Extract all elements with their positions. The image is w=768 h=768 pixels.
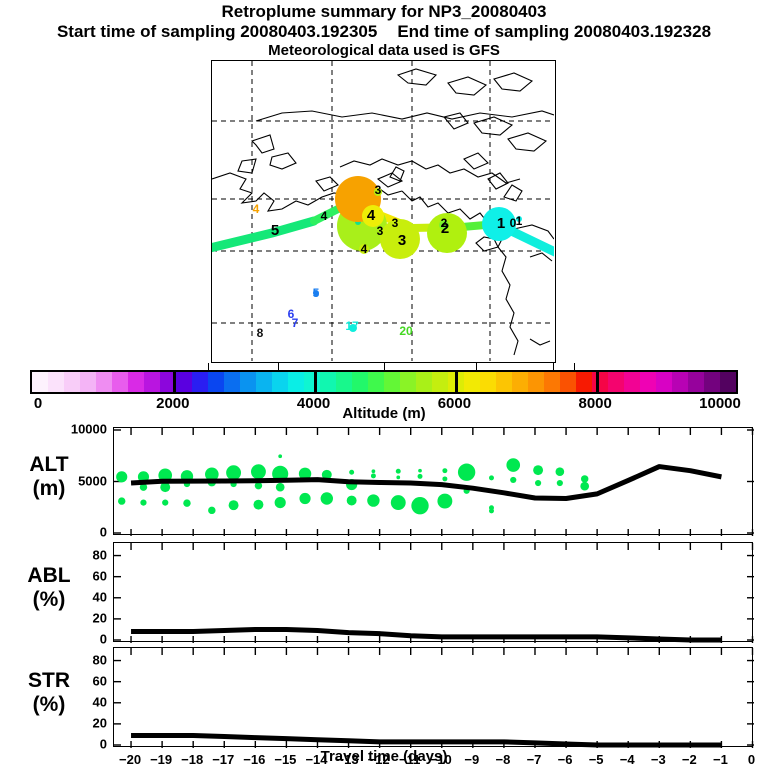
altitude-scatter-marker — [226, 465, 241, 480]
altitude-scatter-marker — [411, 497, 428, 514]
colorbar-segment — [144, 372, 160, 392]
ytick-label: 0 — [100, 633, 107, 646]
colorbar-segment — [400, 372, 416, 392]
xtick-label: −10 — [430, 753, 452, 767]
altitude-scatter-marker — [118, 497, 125, 504]
xtick-label: −18 — [181, 753, 203, 767]
colorbar-segment — [592, 372, 608, 392]
altitude-scatter-marker — [396, 476, 400, 480]
xtick-label: −11 — [399, 753, 420, 767]
map-trajectory-label: 5 — [271, 225, 279, 237]
altitude-scatter-marker — [278, 454, 282, 458]
colorbar-segment — [240, 372, 256, 392]
panel-plot-area-str — [114, 648, 754, 748]
colorbar-divider — [455, 372, 458, 392]
colorbar-segment — [656, 372, 672, 392]
xtick-label: −16 — [243, 753, 265, 767]
colorbar-divider — [596, 372, 599, 392]
colorbar-upper-tick — [476, 363, 477, 370]
colorbar-segment — [672, 372, 688, 392]
altitude-scatter-marker — [372, 469, 376, 473]
colorbar-segment — [32, 372, 48, 392]
xtick-label: −2 — [682, 753, 697, 767]
colorbar-divider — [173, 372, 176, 392]
colorbar-segment — [704, 372, 720, 392]
trajectory-map[interactable]: 45443433322101456781720 — [211, 60, 556, 363]
colorbar-segment — [384, 372, 400, 392]
xtick-label: −17 — [212, 753, 234, 767]
colorbar-segment — [544, 372, 560, 392]
altitude-scatter-marker — [116, 471, 127, 482]
colorbar-upper-tick — [278, 363, 279, 370]
altitude-scatter-marker — [437, 494, 452, 509]
xtick-label: −3 — [651, 753, 666, 767]
map-trajectory-label: 3 — [375, 184, 382, 196]
altitude-scatter-marker — [557, 480, 563, 486]
colorbar-upper-tick — [574, 363, 575, 370]
xtick-label: −7 — [527, 753, 542, 767]
ytick-label: 60 — [93, 674, 107, 687]
altitude-scatter-marker — [418, 469, 422, 473]
panel-unit: (%) — [6, 588, 92, 612]
altitude-scatter-marker — [533, 465, 543, 475]
colorbar-title: Altitude (m) — [0, 405, 768, 422]
end-time-label: End time of sampling 20080403.192328 — [397, 22, 711, 42]
panel-unit: (m) — [6, 477, 92, 501]
ytick-label: 80 — [93, 548, 107, 561]
altitude-scatter-marker — [510, 477, 516, 483]
xtick-label: −4 — [620, 753, 635, 767]
colorbar-segment — [224, 372, 240, 392]
xtick-label: −8 — [495, 753, 510, 767]
ytick-label: 20 — [93, 611, 107, 624]
panel-plot-area-alt — [114, 428, 754, 536]
start-time-label: Start time of sampling 20080403.192305 — [57, 22, 377, 42]
ytick-label: 0 — [100, 526, 107, 539]
xtick-label: −1 — [713, 753, 728, 767]
altitude-scatter-marker — [442, 476, 447, 481]
xtick-label: 0 — [748, 753, 755, 767]
map-trajectory-label: 20 — [399, 325, 412, 337]
xtick-label: −6 — [558, 753, 573, 767]
xtick-label: −20 — [119, 753, 141, 767]
altitude-scatter-marker — [391, 495, 406, 510]
trajectory-segment — [212, 221, 314, 249]
altitude-colorbar[interactable]: 0200040006000800010000 — [30, 370, 738, 394]
panel-name: STR — [6, 669, 92, 693]
map-trajectory-label: 8 — [257, 327, 264, 339]
map-trajectory-label: 4 — [357, 195, 365, 207]
colorbar-upper-tick — [384, 363, 385, 370]
colorbar-upper-tick — [553, 363, 554, 370]
ytick-label: 10000 — [71, 423, 107, 436]
map-trajectory-label: 4 — [367, 210, 375, 222]
xtick-label: −14 — [305, 753, 327, 767]
xtick-label: −5 — [589, 753, 604, 767]
series-line-str — [131, 736, 721, 746]
altitude-scatter-marker — [349, 470, 354, 475]
colorbar-upper-tick — [208, 363, 209, 370]
altitude-scatter-marker — [275, 497, 286, 508]
colorbar-segment — [320, 372, 336, 392]
panel-name: ABL — [6, 564, 92, 588]
met-data-label: Meteorological data used is GFS — [0, 42, 768, 60]
altitude-scatter-marker — [321, 492, 333, 504]
altitude-scatter-marker — [418, 474, 423, 479]
colorbar-segment — [336, 372, 352, 392]
colorbar-segment — [624, 372, 640, 392]
panel-abl[interactable] — [113, 542, 753, 642]
colorbar-segment — [480, 372, 496, 392]
map-trajectory-label: 1 — [516, 215, 523, 227]
panel-label-abl: ABL(%) — [6, 564, 92, 612]
colorbar-segment — [512, 372, 528, 392]
altitude-scatter-marker — [140, 500, 146, 506]
colorbar-segment — [304, 372, 320, 392]
colorbar-segment — [96, 372, 112, 392]
page-title: Retroplume summary for NP3_20080403 — [0, 0, 768, 22]
altitude-scatter-marker — [347, 496, 357, 506]
altitude-scatter-marker — [535, 480, 541, 486]
colorbar-segment — [720, 372, 736, 392]
colorbar-segment — [64, 372, 80, 392]
map-trajectory-label: 1 — [497, 218, 505, 230]
altitude-scatter-marker — [253, 500, 263, 510]
colorbar-gradient — [30, 370, 738, 394]
colorbar-segment — [576, 372, 592, 392]
altitude-scatter-marker — [581, 475, 588, 482]
ytick-label: 80 — [93, 653, 107, 666]
panel-plot-area-abl — [114, 543, 754, 643]
colorbar-segment — [528, 372, 544, 392]
colorbar-segment — [352, 372, 368, 392]
series-line-abl — [131, 629, 721, 640]
colorbar-segment — [112, 372, 128, 392]
ytick-label: 40 — [93, 695, 107, 708]
title-block: Retroplume summary for NP3_20080403 Star… — [0, 0, 768, 60]
panel-alt[interactable] — [113, 427, 753, 535]
colorbar-segment — [128, 372, 144, 392]
colorbar-segment — [48, 372, 64, 392]
ytick-label: 0 — [100, 738, 107, 751]
altitude-scatter-marker — [506, 458, 520, 472]
panel-name: ALT — [6, 453, 92, 477]
map-trajectory-label: 4 — [361, 243, 368, 255]
map-trajectory-label: 3 — [377, 225, 384, 237]
map-trajectory-label: 3 — [392, 217, 399, 229]
ytick-label: 60 — [93, 569, 107, 582]
xtick-label: −15 — [274, 753, 296, 767]
altitude-scatter-marker — [367, 494, 379, 506]
colorbar-segment — [464, 372, 480, 392]
altitude-scatter-marker — [556, 467, 565, 476]
colorbar-segment — [640, 372, 656, 392]
colorbar-segment — [288, 372, 304, 392]
colorbar-segment — [688, 372, 704, 392]
altitude-scatter-marker — [442, 468, 447, 473]
colorbar-divider — [314, 372, 317, 392]
altitude-scatter-marker — [229, 500, 239, 510]
xtick-label: −9 — [464, 753, 479, 767]
colorbar-segment — [256, 372, 272, 392]
colorbar-segment — [496, 372, 512, 392]
sampling-time-line: Start time of sampling 20080403.192305 E… — [0, 22, 768, 42]
altitude-scatter-marker — [276, 483, 285, 492]
colorbar-segment — [272, 372, 288, 392]
series-line-alt — [131, 467, 721, 499]
map-trajectory-label: 4 — [253, 203, 260, 215]
colorbar-segment — [560, 372, 576, 392]
ytick-label: 40 — [93, 590, 107, 603]
map-trajectory-label: 5 — [313, 287, 320, 299]
panel-unit: (%) — [6, 693, 92, 717]
colorbar-segment — [192, 372, 208, 392]
ytick-label: 20 — [93, 716, 107, 729]
altitude-scatter-marker — [489, 508, 494, 513]
map-trajectory-label: 17 — [345, 320, 358, 332]
map-trajectory-label: 7 — [292, 317, 299, 329]
xtick-label: −19 — [150, 753, 172, 767]
panel-str[interactable] — [113, 647, 753, 747]
altitude-scatter-marker — [299, 493, 310, 504]
colorbar-segment — [208, 372, 224, 392]
colorbar-segment — [176, 372, 192, 392]
panel-label-str: STR(%) — [6, 669, 92, 717]
altitude-scatter-marker — [162, 500, 168, 506]
map-trajectory-label: 2 — [441, 217, 448, 229]
altitude-scatter-marker — [371, 473, 376, 478]
panel-label-alt: ALT(m) — [6, 453, 92, 501]
altitude-scatter-marker — [580, 482, 589, 491]
colorbar-segment — [416, 372, 432, 392]
colorbar-segment — [432, 372, 448, 392]
colorbar-segment — [368, 372, 384, 392]
altitude-scatter-marker — [489, 475, 494, 480]
altitude-scatter-marker — [183, 499, 190, 506]
altitude-scatter-marker — [396, 469, 401, 474]
altitude-scatter-marker — [208, 507, 215, 514]
altitude-scatter-marker — [251, 464, 266, 479]
map-trajectory-label: 4 — [321, 210, 328, 222]
map-trajectory-label: 3 — [398, 235, 406, 247]
colorbar-segment — [80, 372, 96, 392]
xtick-label: −13 — [337, 753, 359, 767]
colorbar-segment — [608, 372, 624, 392]
xtick-label: −12 — [368, 753, 390, 767]
altitude-scatter-marker — [458, 464, 475, 481]
